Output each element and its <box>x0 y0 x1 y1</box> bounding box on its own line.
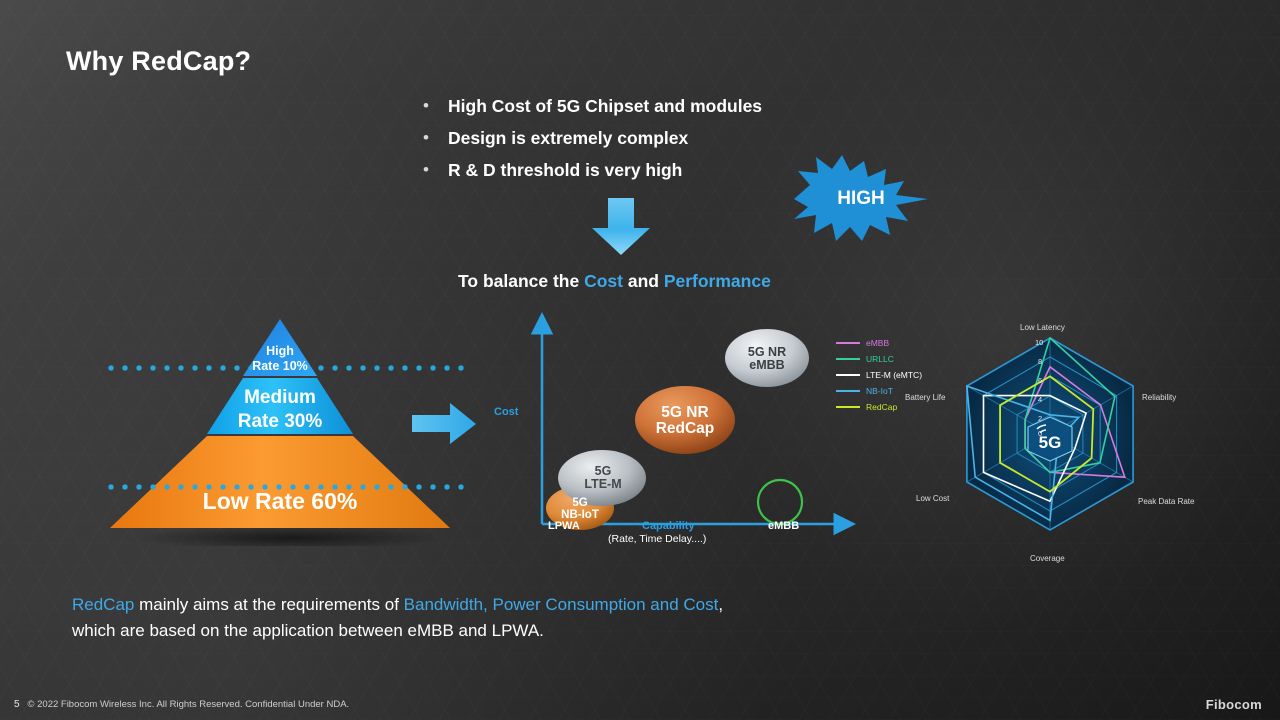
balance-performance-word: Performance <box>664 271 771 291</box>
balance-cost-word: Cost <box>584 271 623 291</box>
bullet-text: High Cost of 5G Chipset and modules <box>448 94 762 118</box>
right-arrow-icon <box>412 403 478 445</box>
radar-axis-coverage: Coverage <box>1030 554 1065 563</box>
radar-tick-6: 6 <box>1038 376 1042 385</box>
bubble-5g-nr-redcap-line2: RedCap <box>656 421 715 437</box>
list-item: • High Cost of 5G Chipset and modules <box>418 94 938 118</box>
bubble-5g-nr-embb: 5G NR eMBB <box>727 334 807 384</box>
bubble-5g-nr-redcap-line1: 5G NR <box>656 405 715 421</box>
bullet-marker-icon: • <box>418 126 434 150</box>
chart-y-axis-label: Cost <box>494 406 518 418</box>
bullet-text: Design is extremely complex <box>448 126 688 150</box>
legend-swatch-embb <box>836 342 860 344</box>
legend-swatch-lte-m <box>836 374 860 376</box>
pyramid-tier-high-line1: High <box>225 344 335 359</box>
high-callout-badge: HIGH <box>786 155 936 243</box>
pyramid-tier-low-line1: Low Rate 60% <box>170 488 390 515</box>
page-number: 5 <box>14 699 20 710</box>
radar-chart: 5G 10 8 6 4 2 0 Low Latency Reliability … <box>880 322 1225 572</box>
radar-tick-2: 2 <box>1038 414 1042 423</box>
pyramid-tier-medium: Medium Rate 30% <box>205 386 355 434</box>
down-arrow-icon <box>588 198 654 256</box>
pyramid-tier-low: Low Rate 60% <box>170 488 390 515</box>
balance-prefix: To balance the <box>458 271 584 291</box>
company-logo: Fibocom <box>1206 697 1262 712</box>
summary-text: RedCap mainly aims at the requirements o… <box>72 592 1072 644</box>
radar-tick-8: 8 <box>1038 357 1042 366</box>
balance-statement: To balance the Cost and Performance <box>458 271 771 292</box>
summary-text-2: , <box>718 595 723 614</box>
chart-x-axis-label: Capability <box>642 520 695 532</box>
high-badge-label: HIGH <box>786 155 936 243</box>
radar-axis-reliability: Reliability <box>1142 393 1176 402</box>
legend-swatch-redcap <box>836 406 860 408</box>
bubble-5g-nb-iot-line1: 5G <box>561 497 599 509</box>
copyright-text: © 2022 Fibocom Wireless Inc. All Rights … <box>27 699 349 710</box>
bullet-marker-icon: • <box>418 94 434 118</box>
radar-axis-peak-data-rate: Peak Data Rate <box>1138 497 1194 506</box>
slide-footer: 5 © 2022 Fibocom Wireless Inc. All Right… <box>14 699 349 710</box>
bubble-5g-lte-m-line2: LTE-M <box>584 478 621 491</box>
legend-swatch-urllc <box>836 358 860 360</box>
chart-x-axis-sublabel: (Rate, Time Delay....) <box>608 533 706 545</box>
summary-text-1: mainly aims at the requirements of <box>134 595 403 614</box>
pyramid-tier-medium-line2: Rate 30% <box>205 410 355 434</box>
chart-x-min-label: LPWA <box>548 520 580 532</box>
radar-tick-4: 4 <box>1038 395 1042 404</box>
bubble-5g-nr-redcap: 5G NR RedCap <box>640 394 730 448</box>
radar-axis-low-cost: Low Cost <box>916 494 949 503</box>
list-item: • Design is extremely complex <box>418 126 938 150</box>
bullet-text: R & D threshold is very high <box>448 158 682 182</box>
summary-line-2: which are based on the application betwe… <box>72 618 1072 644</box>
radar-axis-low-latency: Low Latency <box>1020 323 1065 332</box>
summary-highlight: Bandwidth, Power Consumption and Cost <box>404 595 719 614</box>
bullet-marker-icon: • <box>418 158 434 182</box>
pyramid-tier-medium-line1: Medium <box>205 386 355 410</box>
page-title: Why RedCap? <box>66 46 251 77</box>
radar-tick-10: 10 <box>1035 338 1043 347</box>
legend-swatch-nb-iot <box>836 390 860 392</box>
balance-middle: and <box>623 271 664 291</box>
summary-redcap-word: RedCap <box>72 595 134 614</box>
pyramid-tier-high-line2: Rate 10% <box>225 359 335 374</box>
pyramid-tier-high: High Rate 10% <box>225 344 335 374</box>
radar-tick-0: 0 <box>1038 429 1042 438</box>
radar-axis-battery-life: Battery Life <box>905 393 945 402</box>
chart-x-max-label: eMBB <box>768 520 799 532</box>
bubble-5g-nr-embb-line2: eMBB <box>748 359 786 372</box>
